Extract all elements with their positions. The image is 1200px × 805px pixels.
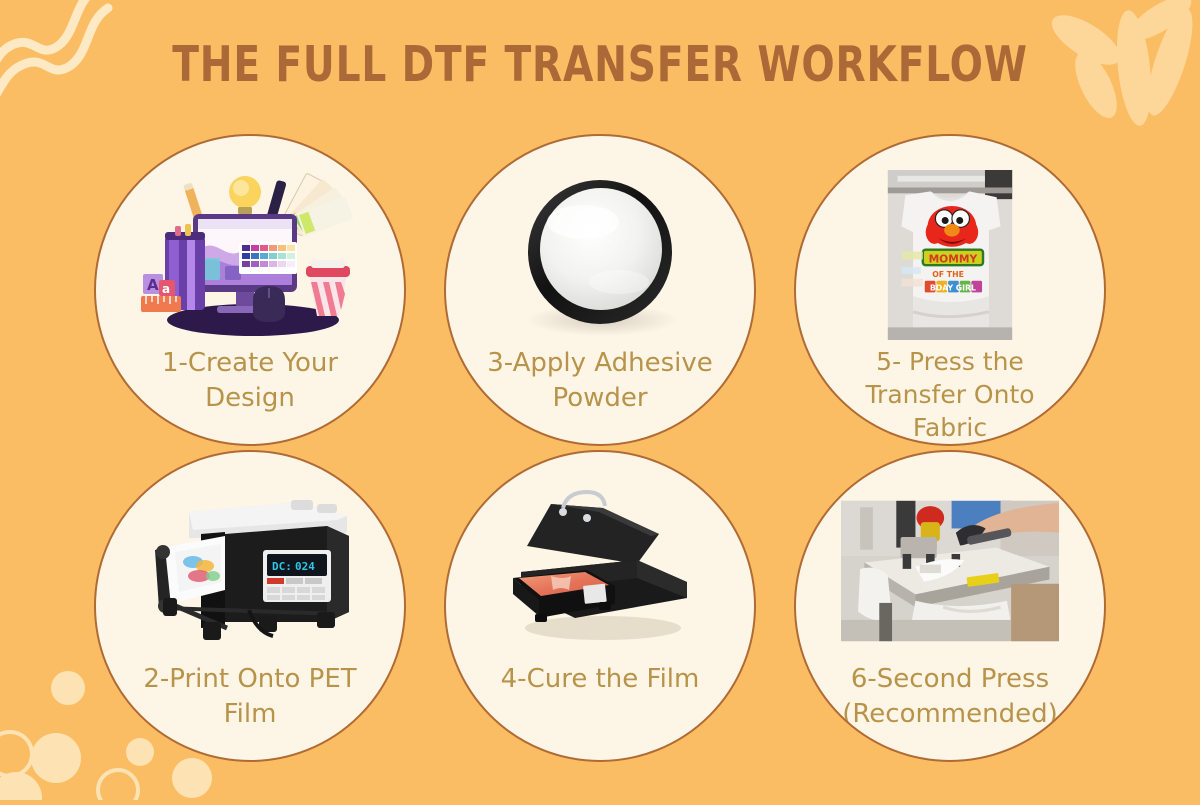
tshirt-with-transfer-photo: MOMMY OF THE BDAY GIRL	[841, 170, 1059, 340]
svg-text:DC:: DC:	[272, 560, 292, 573]
step-card-2[interactable]: DC: 024	[94, 450, 406, 762]
svg-text:OF THE: OF THE	[932, 270, 964, 279]
curing-oven-illustration	[491, 486, 709, 656]
infographic-canvas: THE FULL DTF TRANSFER WORKFLOW	[0, 0, 1200, 800]
step-caption-2: 2-Print Onto PET Film	[130, 662, 370, 731]
step-caption-6: 6-Second Press (Recommended)	[830, 662, 1070, 731]
step-caption-4: 4-Cure the Film	[480, 662, 720, 697]
svg-text:MOMMY: MOMMY	[929, 252, 978, 265]
step-caption-5: 5- Press the Transfer Onto Fabric	[830, 346, 1070, 444]
svg-text:BDAY GIRL: BDAY GIRL	[930, 283, 976, 292]
step-card-1[interactable]: A a	[94, 134, 406, 446]
step-card-5[interactable]: MOMMY OF THE BDAY GIRL	[794, 134, 1106, 446]
adhesive-powder-container	[491, 170, 709, 340]
svg-text:024: 024	[295, 560, 315, 573]
step-card-3[interactable]: 3-Apply Adhesive Powder	[444, 134, 756, 446]
svg-text:A: A	[147, 276, 159, 294]
step-caption-3: 3-Apply Adhesive Powder	[480, 346, 720, 415]
workflow-steps-grid: A a	[0, 0, 1200, 800]
step-caption-1: 1-Create Your Design	[130, 346, 370, 415]
svg-text:a: a	[162, 282, 170, 296]
step-card-6[interactable]: 6-Second Press (Recommended)	[794, 450, 1106, 762]
design-workstation-illustration: A a	[141, 170, 359, 340]
step-card-4[interactable]: 4-Cure the Film	[444, 450, 756, 762]
heat-press-machine-photo	[841, 486, 1059, 656]
dtf-printer-illustration: DC: 024	[141, 486, 359, 656]
